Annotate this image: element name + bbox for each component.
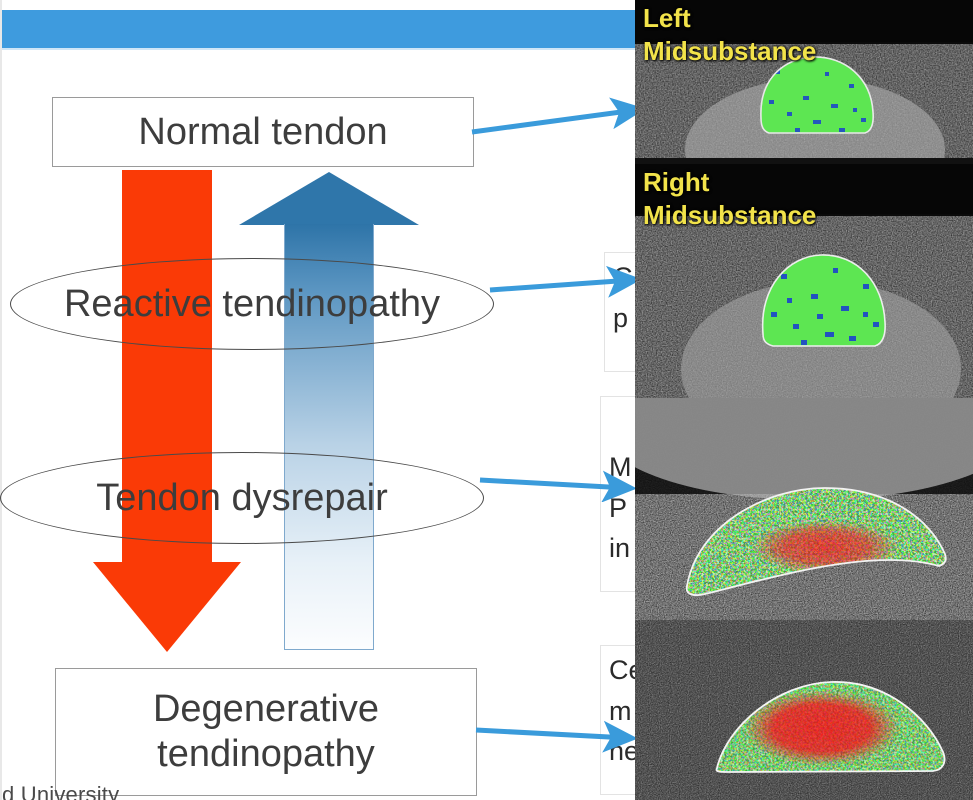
ultrasound-image-1[interactable]: Left Midsubstance <box>635 0 973 164</box>
title-banner <box>2 10 642 48</box>
slide-canvas: Normal tendon Reactive tendinopathy Tend… <box>0 0 973 800</box>
ultrasound-image-3[interactable] <box>635 398 973 620</box>
connector-arrow-reactive-icon <box>488 262 648 302</box>
degenerative-tendinopathy-box[interactable]: Degenerative tendinopathy <box>55 668 477 796</box>
degenerative-label-line1: Degenerative <box>153 687 379 732</box>
ultrasound-image-4[interactable] <box>635 620 973 800</box>
ultrasound-image-strip: Left Midsubstance <box>635 0 973 800</box>
degenerative-label-line2: tendinopathy <box>157 732 375 777</box>
normal-tendon-label: Normal tendon <box>138 110 387 155</box>
red-downward-arrow-icon <box>93 170 241 652</box>
connector-arrow-degenerative-icon <box>474 710 644 756</box>
tendon-dysrepair-ellipse[interactable]: Tendon dysrepair <box>0 452 484 544</box>
red-arrow-head <box>93 562 241 652</box>
blue-upward-arrow-icon <box>239 172 419 650</box>
connector-arrow-dysrepair-icon <box>478 462 643 502</box>
blue-arrow-head <box>239 172 419 225</box>
ultrasound-image-2[interactable]: Right Midsubstance <box>635 164 973 398</box>
tendon-dysrepair-label: Tendon dysrepair <box>96 477 388 520</box>
connector-arrow-normal-icon <box>470 96 650 148</box>
reactive-tendinopathy-label: Reactive tendinopathy <box>64 283 440 326</box>
normal-tendon-box[interactable]: Normal tendon <box>52 97 474 167</box>
title-banner-shadow <box>2 48 642 50</box>
reactive-tendinopathy-ellipse[interactable]: Reactive tendinopathy <box>10 258 494 350</box>
footer-affiliation-text: d University <box>2 782 119 800</box>
page-left-edge <box>0 0 2 800</box>
